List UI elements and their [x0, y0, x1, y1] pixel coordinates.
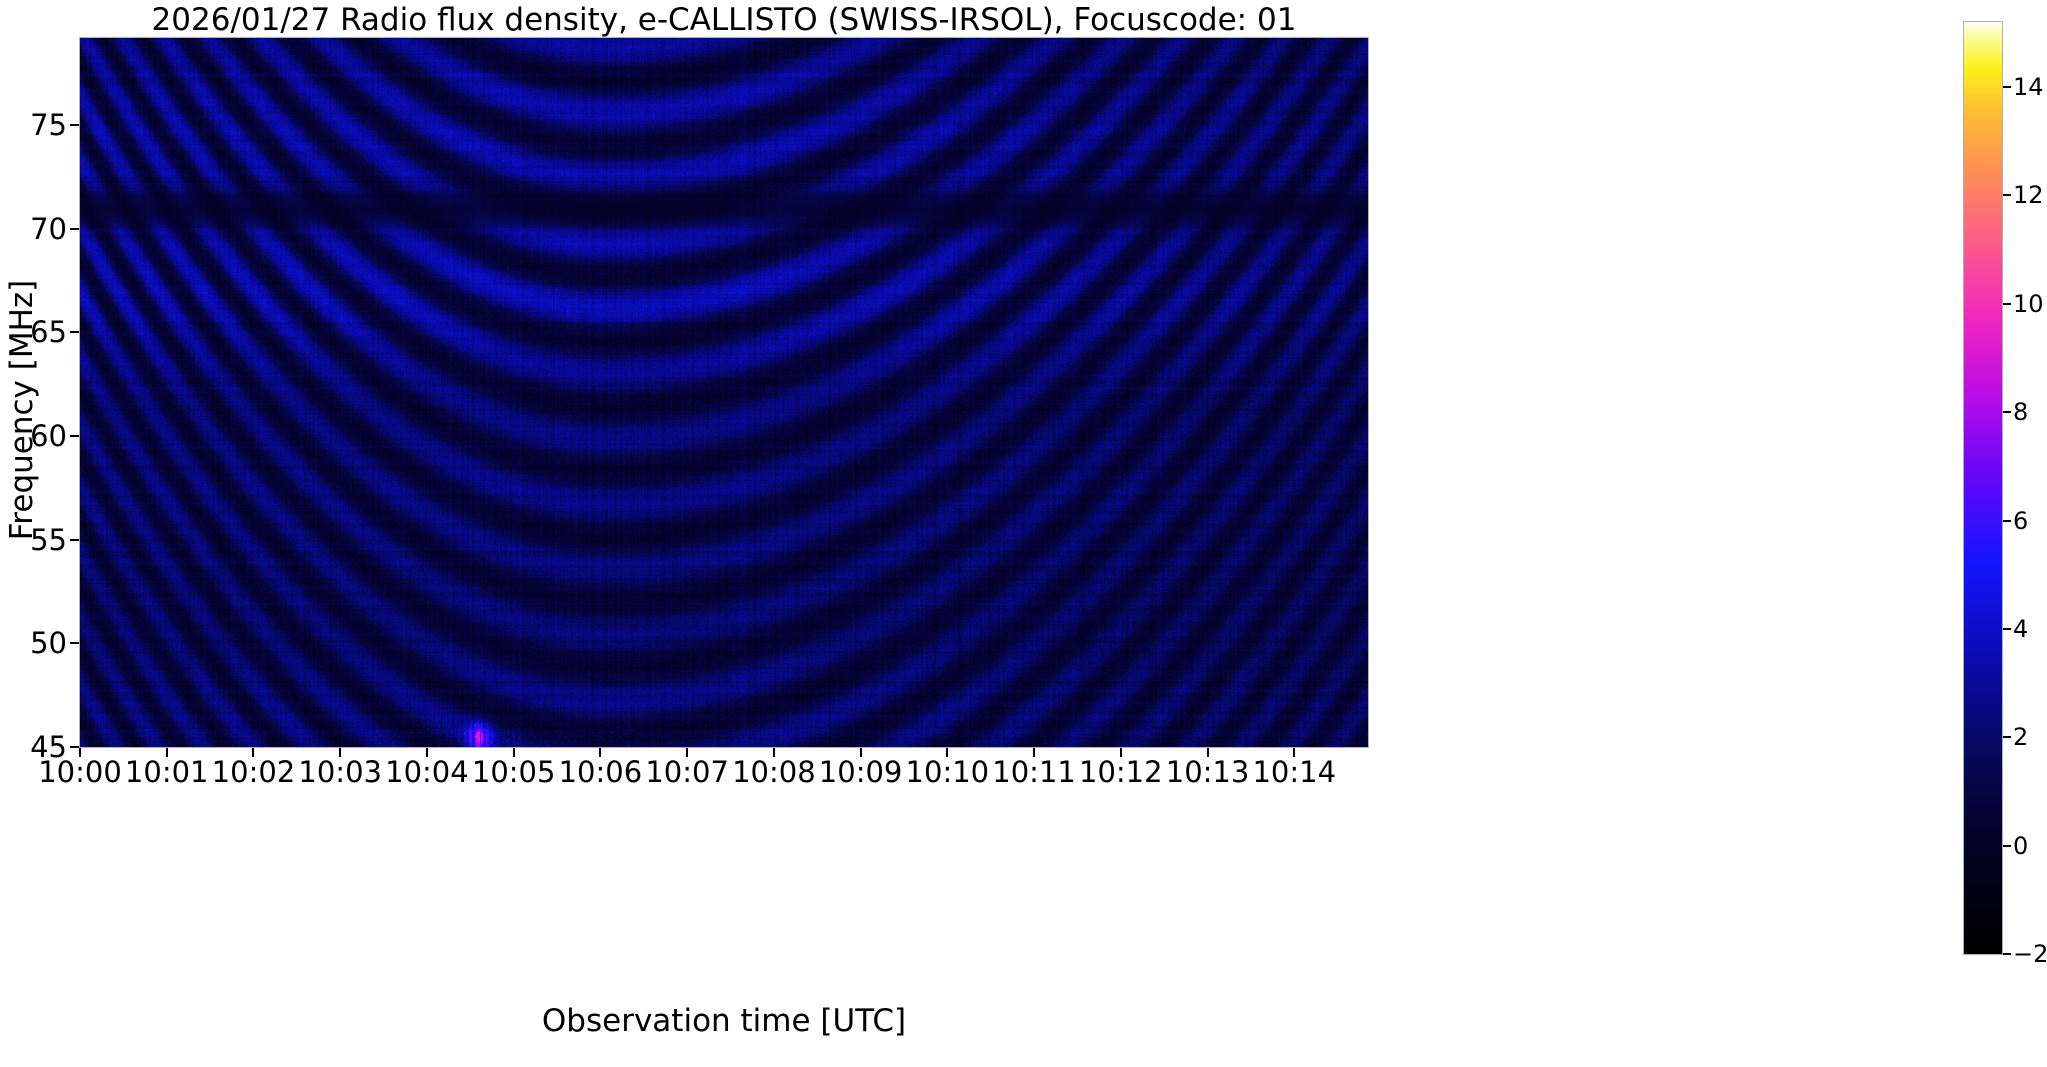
- colorbar-tick-mark: [2003, 953, 2011, 955]
- x-tick-mark: [339, 748, 341, 757]
- y-tick-mark: [70, 539, 79, 541]
- x-tick-mark: [773, 748, 775, 757]
- colorbar-tick-mark: [2003, 736, 2011, 738]
- colorbar-tick-label: 2: [2013, 723, 2028, 751]
- y-tick-mark: [70, 642, 79, 644]
- spectrogram-figure: 2026/01/27 Radio flux density, e-CALLIST…: [0, 0, 2047, 1067]
- colorbar-tick-label: 6: [2013, 507, 2028, 535]
- x-tick-label: 10:02: [212, 755, 296, 789]
- x-tick-label: 10:14: [1252, 755, 1336, 789]
- x-tick-mark: [513, 748, 515, 757]
- colorbar-tick-label: 12: [2013, 181, 2044, 209]
- colorbar-tick-mark: [2003, 628, 2011, 630]
- x-tick-label: 10:07: [645, 755, 729, 789]
- x-tick-label: 10:00: [38, 755, 122, 789]
- y-tick-mark: [70, 435, 79, 437]
- colorbar-tick-mark: [2003, 86, 2011, 88]
- x-tick-mark: [1293, 748, 1295, 757]
- colorbar-gradient: [1964, 22, 2002, 954]
- x-tick-label: 10:04: [385, 755, 469, 789]
- colorbar-tick-label: 14: [2013, 73, 2044, 101]
- x-axis-label: Observation time [UTC]: [79, 1003, 1369, 1039]
- x-tick-label: 10:03: [298, 755, 382, 789]
- colorbar-tick-mark: [2003, 303, 2011, 305]
- page-title: 2026/01/27 Radio flux density, e-CALLIST…: [79, 2, 1369, 38]
- colorbar-tick-label: 0: [2013, 832, 2028, 860]
- colorbar[interactable]: [1963, 21, 2003, 955]
- x-tick-label: 10:09: [819, 755, 903, 789]
- y-tick-mark: [70, 746, 79, 748]
- x-tick-mark: [1207, 748, 1209, 757]
- x-tick-label: 10:01: [125, 755, 209, 789]
- x-tick-label: 10:06: [559, 755, 643, 789]
- x-tick-mark: [252, 748, 254, 757]
- x-tick-mark: [599, 748, 601, 757]
- x-tick-label: 10:10: [906, 755, 990, 789]
- y-tick-mark: [70, 124, 79, 126]
- x-tick-label: 10:13: [1166, 755, 1250, 789]
- x-tick-label: 10:12: [1079, 755, 1163, 789]
- x-tick-label: 10:11: [992, 755, 1076, 789]
- x-tick-mark: [1033, 748, 1035, 757]
- spectrogram-axes[interactable]: [79, 37, 1369, 748]
- colorbar-tick-label: 4: [2013, 615, 2028, 643]
- y-tick-mark: [70, 228, 79, 230]
- colorbar-tick-mark: [2003, 520, 2011, 522]
- y-axis-label: Frequency [MHz]: [4, 130, 40, 690]
- colorbar-tick-label: 8: [2013, 398, 2028, 426]
- x-tick-label: 10:05: [472, 755, 556, 789]
- x-tick-mark: [1120, 748, 1122, 757]
- colorbar-tick-label: 10: [2013, 290, 2044, 318]
- x-tick-mark: [426, 748, 428, 757]
- x-tick-label: 10:08: [732, 755, 816, 789]
- x-tick-mark: [860, 748, 862, 757]
- x-tick-mark: [166, 748, 168, 757]
- x-tick-mark: [686, 748, 688, 757]
- x-tick-mark: [946, 748, 948, 757]
- colorbar-tick-mark: [2003, 411, 2011, 413]
- x-tick-mark: [79, 748, 81, 757]
- spectrogram-image[interactable]: [80, 38, 1368, 747]
- y-tick-mark: [70, 331, 79, 333]
- colorbar-tick-label: −2: [2013, 940, 2047, 968]
- colorbar-tick-mark: [2003, 194, 2011, 196]
- colorbar-tick-mark: [2003, 845, 2011, 847]
